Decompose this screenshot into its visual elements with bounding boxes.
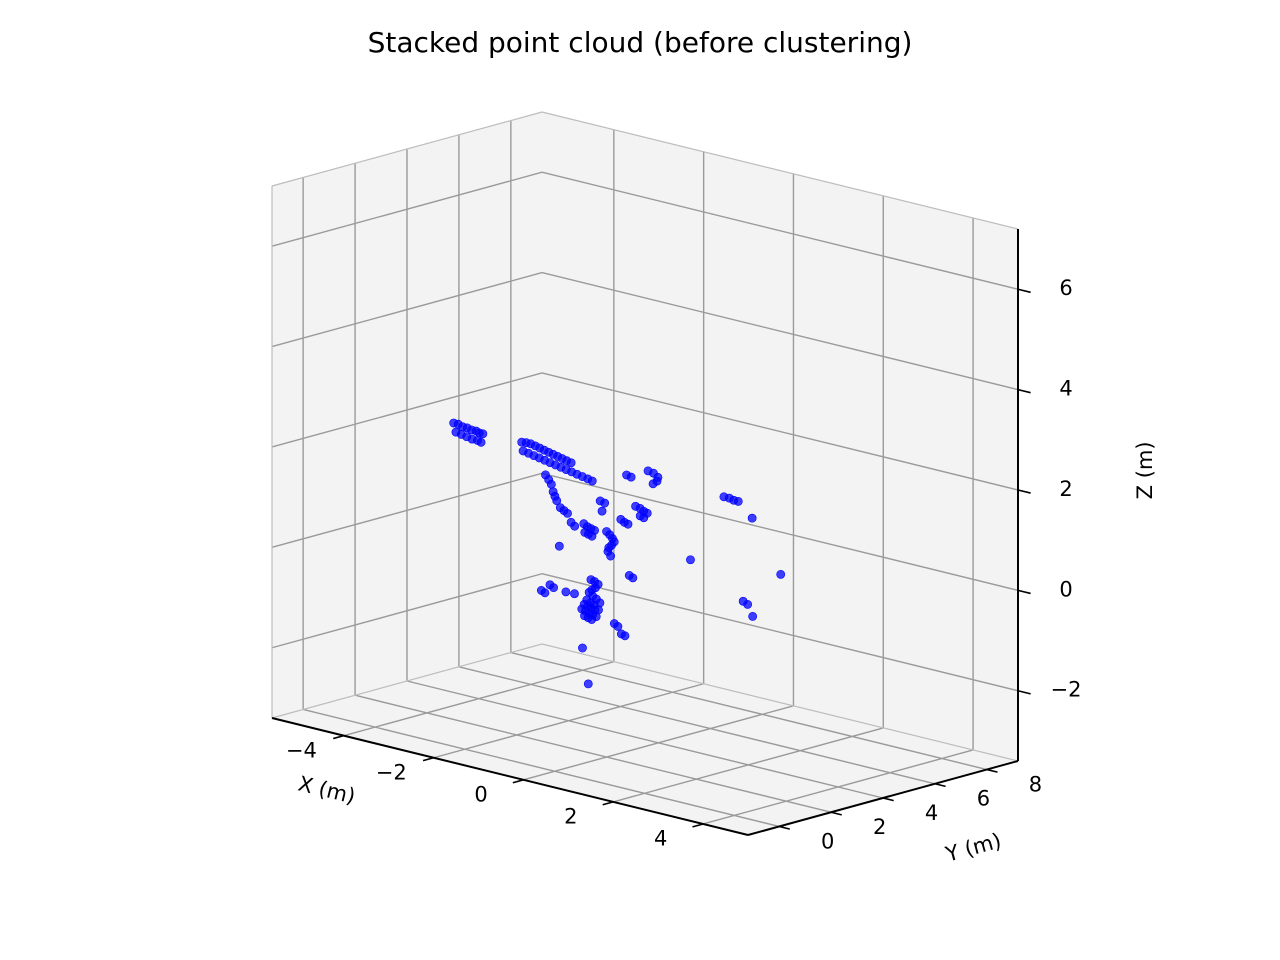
y-axis-title: Y (m) — [942, 829, 1004, 867]
data-point — [610, 538, 618, 546]
z-tick-4 — [1018, 289, 1031, 292]
data-point — [654, 473, 662, 481]
data-point — [627, 473, 635, 481]
x-tick-label-4: 4 — [654, 827, 667, 851]
data-point — [629, 574, 637, 582]
z-tick-label-3: 4 — [1059, 377, 1072, 401]
data-point — [594, 580, 602, 588]
data-point — [562, 588, 570, 596]
z-tick-label-1: 0 — [1059, 577, 1072, 601]
y-tick-3 — [935, 784, 946, 787]
data-point — [588, 477, 596, 485]
data-point — [749, 612, 757, 620]
data-point — [621, 632, 629, 640]
data-point — [570, 590, 578, 598]
scatter3d-axes[interactable]: −4−202402468−20246 X (m)Y (m)Z (m) — [0, 0, 1280, 960]
data-point — [571, 522, 579, 530]
data-point — [734, 497, 742, 505]
y-tick-1 — [831, 812, 842, 815]
y-tick-label-2: 4 — [925, 801, 938, 825]
y-tick-0 — [779, 826, 790, 829]
z-axis-title: Z (m) — [1133, 441, 1157, 499]
data-point — [596, 599, 604, 607]
y-tick-2 — [883, 798, 894, 801]
x-tick-3 — [603, 802, 614, 805]
data-point — [777, 570, 785, 578]
x-tick-1 — [423, 758, 434, 761]
y-tick-label-0: 0 — [821, 829, 834, 853]
x-tick-label-0: −4 — [286, 738, 317, 762]
data-point — [584, 680, 592, 688]
x-tick-label-1: −2 — [376, 760, 407, 784]
data-point — [479, 430, 487, 438]
data-point — [563, 509, 571, 517]
y-tick-4 — [987, 770, 998, 773]
z-tick-label-4: 6 — [1059, 276, 1072, 300]
x-tick-0 — [333, 736, 344, 739]
x-tick-4 — [692, 824, 703, 827]
data-point — [686, 556, 694, 564]
y-tick-label-3: 6 — [977, 787, 990, 811]
x-tick-2 — [513, 780, 524, 783]
figure-canvas: Stacked point cloud (before clustering) … — [0, 0, 1280, 960]
data-point — [607, 552, 615, 560]
y-tick-label-4: 8 — [1029, 772, 1042, 796]
z-tick-0 — [1018, 691, 1031, 694]
data-point — [748, 514, 756, 522]
x-tick-label-3: 2 — [564, 805, 577, 829]
z-tick-label-0: −2 — [1051, 678, 1082, 702]
z-tick-3 — [1018, 390, 1031, 393]
data-point — [744, 600, 752, 608]
data-point — [601, 499, 609, 507]
z-tick-2 — [1018, 490, 1031, 493]
data-point — [549, 584, 557, 592]
data-point — [598, 507, 606, 515]
data-point — [590, 526, 598, 534]
data-point — [541, 589, 549, 597]
data-point — [624, 520, 632, 528]
data-point — [643, 509, 651, 517]
data-point — [578, 644, 586, 652]
z-tick-1 — [1018, 590, 1031, 593]
data-point — [567, 459, 575, 467]
y-tick-label-1: 2 — [873, 815, 886, 839]
data-point — [614, 622, 622, 630]
data-point — [547, 480, 555, 488]
x-axis-title: X (m) — [296, 772, 358, 809]
x-tick-label-2: 0 — [474, 782, 487, 806]
data-point — [477, 438, 485, 446]
z-tick-label-2: 2 — [1059, 477, 1072, 501]
data-point — [555, 542, 563, 550]
